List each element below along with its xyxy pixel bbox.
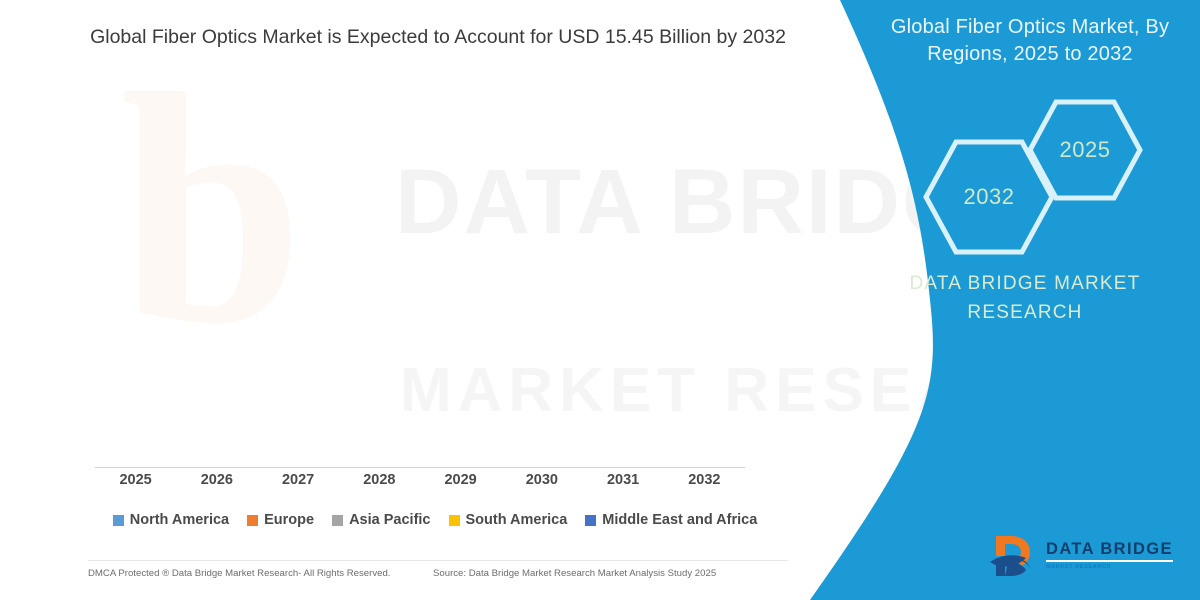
legend-label: Asia Pacific: [349, 512, 430, 528]
dbmr-b-mark-icon: [986, 532, 1038, 580]
legend-item[interactable]: Europe: [247, 512, 314, 528]
footer-copyright: DMCA Protected ® Data Bridge Market Rese…: [88, 568, 433, 579]
footer-source: Source: Data Bridge Market Research Mark…: [433, 568, 788, 579]
legend-swatch: [585, 515, 596, 526]
legend-label: South America: [466, 512, 568, 528]
x-axis-labels: 20252026202720282029203020312032: [95, 472, 745, 488]
chart-legend: North AmericaEuropeAsia PacificSouth Ame…: [95, 512, 775, 528]
logo-divider: [1046, 560, 1173, 562]
x-axis-label: 2032: [664, 472, 745, 488]
chart-title: Global Fiber Optics Market is Expected t…: [78, 24, 798, 52]
legend-item[interactable]: North America: [113, 512, 229, 528]
panel-brand-name: DATA BRIDGE MARKET RESEARCH: [855, 270, 1195, 327]
panel-title: Global Fiber Optics Market, By Regions, …: [875, 14, 1185, 68]
bar-columns: [95, 150, 745, 467]
legend-swatch: [113, 515, 124, 526]
x-axis-line: [95, 467, 745, 468]
bar-column: [176, 150, 257, 467]
chart-area: b DATA BRIDGE MARKET RESEARCH Global Fib…: [0, 0, 810, 600]
x-axis-label: 2026: [176, 472, 257, 488]
logo-text-sub: MARKET RESEARCH: [1046, 565, 1173, 571]
hexagon-2025: 2025: [1026, 98, 1144, 202]
x-axis-label: 2030: [501, 472, 582, 488]
logo-text-main: DATA BRIDGE: [1046, 541, 1173, 558]
bar-column: [501, 150, 582, 467]
stacked-bar-plot: [95, 150, 745, 468]
footer-divider: [88, 560, 788, 561]
legend-item[interactable]: Asia Pacific: [332, 512, 430, 528]
x-axis-label: 2028: [339, 472, 420, 488]
blue-info-panel: Global Fiber Optics Market, By Regions, …: [780, 0, 1200, 600]
legend-swatch: [332, 515, 343, 526]
bar-column: [95, 150, 176, 467]
legend-label: Middle East and Africa: [602, 512, 757, 528]
legend-item[interactable]: Middle East and Africa: [585, 512, 757, 528]
legend-swatch: [449, 515, 460, 526]
bar-column: [583, 150, 664, 467]
bar-column: [258, 150, 339, 467]
legend-label: North America: [130, 512, 229, 528]
x-axis-label: 2027: [258, 472, 339, 488]
x-axis-label: 2029: [420, 472, 501, 488]
x-axis-label: 2025: [95, 472, 176, 488]
data-bridge-logo: DATA BRIDGE MARKET RESEARCH: [986, 530, 1182, 582]
bar-column: [339, 150, 420, 467]
footer: DMCA Protected ® Data Bridge Market Rese…: [88, 568, 788, 579]
legend-label: Europe: [264, 512, 314, 528]
hexagon-2025-label: 2025: [1060, 137, 1111, 163]
bar-column: [420, 150, 501, 467]
legend-swatch: [247, 515, 258, 526]
x-axis-label: 2031: [583, 472, 664, 488]
hexagon-year-group: 2032 2025: [900, 96, 1200, 241]
bar-column: [664, 150, 745, 467]
panel-decorative-ring: [780, 228, 852, 378]
hexagon-2032-label: 2032: [964, 184, 1015, 210]
legend-item[interactable]: South America: [449, 512, 568, 528]
